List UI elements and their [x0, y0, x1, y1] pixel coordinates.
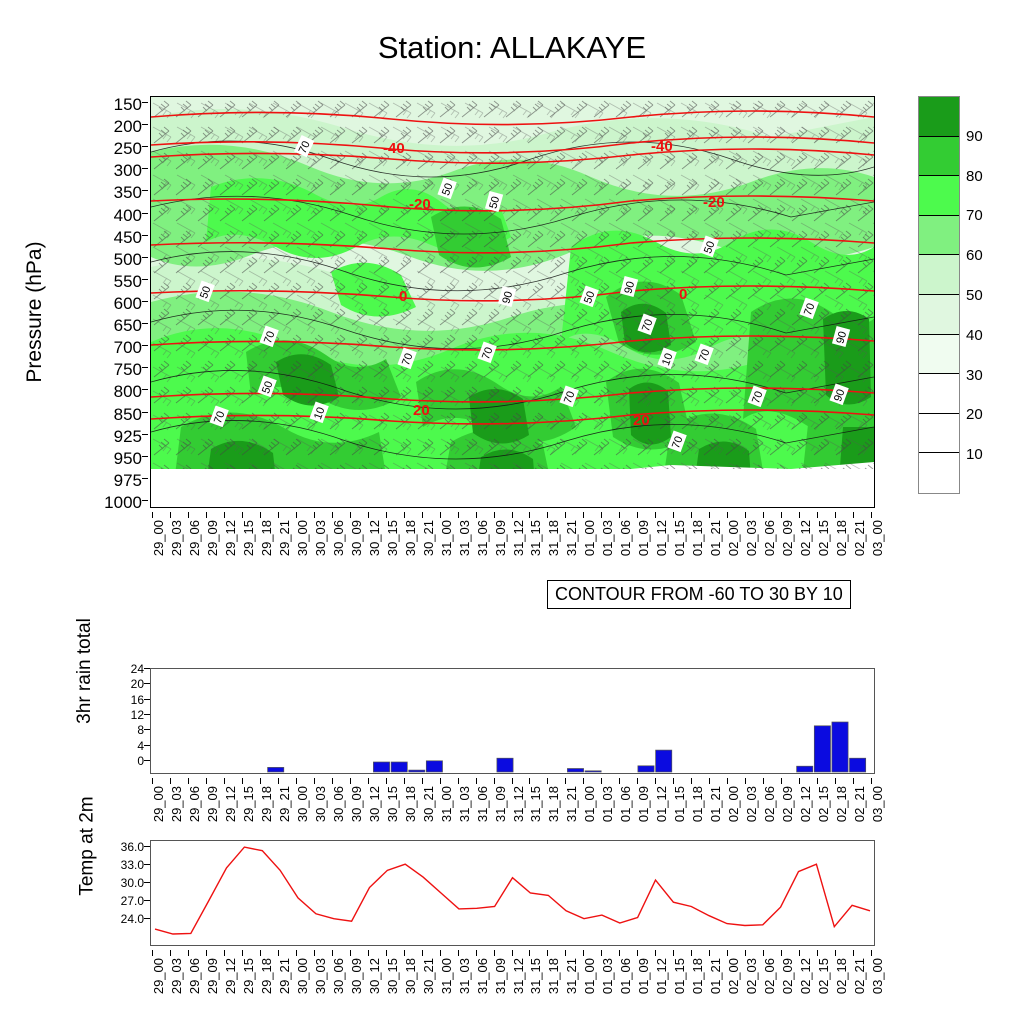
pressure-tick: 600: [82, 295, 142, 312]
time-tick: 02_12: [799, 520, 812, 556]
time-tick: 30_09: [350, 520, 363, 556]
time-tickmark: [332, 950, 333, 956]
time-tickmark: [440, 512, 441, 518]
pressure-tickmark: [142, 412, 148, 413]
time-tickmark: [494, 512, 495, 518]
pressure-tickmark: [142, 235, 148, 236]
pressure-tick: 450: [82, 229, 142, 246]
time-tick: 30_12: [368, 520, 381, 556]
time-tickmark: [458, 512, 459, 518]
time-tickmark: [799, 778, 800, 784]
time-tick: 01_21: [709, 958, 722, 994]
time-tickmark: [565, 950, 566, 956]
time-tickmark: [386, 950, 387, 956]
time-tick: 31_21: [565, 786, 578, 822]
time-tickmark: [440, 778, 441, 784]
time-tickmark: [529, 950, 530, 956]
time-tick: 31_15: [529, 520, 542, 556]
rain-bar: [567, 769, 583, 773]
time-tick: 31_18: [547, 958, 560, 994]
time-tick: 03_00: [871, 520, 884, 556]
time-tick: 31_18: [547, 786, 560, 822]
time-tickmark: [745, 778, 746, 784]
rain-bar: [656, 750, 672, 772]
time-tickmark: [386, 778, 387, 784]
rain-bar: [850, 758, 866, 772]
time-tick: 30_12: [368, 958, 381, 994]
pressure-tick: 200: [82, 118, 142, 135]
time-tick: 29_12: [224, 958, 237, 994]
time-tick: 29_21: [278, 520, 291, 556]
time-tick: 02_06: [763, 958, 776, 994]
time-tickmark: [170, 512, 171, 518]
time-tick: 01_09: [637, 520, 650, 556]
time-tickmark: [781, 512, 782, 518]
time-tick: 02_21: [853, 958, 866, 994]
time-tickmark: [242, 512, 243, 518]
pressure-tickmark: [142, 323, 148, 324]
time-tick: 02_12: [799, 786, 812, 822]
pressure-tickmark: [142, 124, 148, 125]
time-tickmark: [637, 512, 638, 518]
pressure-tick: 975: [82, 472, 142, 489]
time-tickmark: [655, 778, 656, 784]
time-tickmark: [404, 950, 405, 956]
time-tickmark: [188, 512, 189, 518]
time-tick: 02_21: [853, 520, 866, 556]
pressure-tick: 650: [82, 317, 142, 334]
colorbar-label: 50: [966, 288, 983, 303]
svg-text:-40: -40: [651, 138, 673, 155]
time-tick: 30_00: [296, 958, 309, 994]
colorbar-label: 70: [966, 208, 983, 223]
time-tick: 31_06: [476, 520, 489, 556]
rain-bar: [585, 771, 601, 772]
time-tickmark: [529, 512, 530, 518]
time-tickmark: [637, 778, 638, 784]
time-tick: 30_00: [296, 520, 309, 556]
time-tick: 31_21: [565, 520, 578, 556]
colorbar-labels: 908070605040302010: [918, 96, 1018, 496]
time-tickmark: [206, 778, 207, 784]
time-tickmark: [260, 778, 261, 784]
rain-bar: [373, 762, 389, 772]
time-tick: 31_06: [476, 958, 489, 994]
time-tickmark: [512, 512, 513, 518]
time-tickmark: [368, 512, 369, 518]
time-tickmark: [494, 950, 495, 956]
colorbar-label: 80: [966, 169, 983, 184]
svg-text:20: 20: [633, 412, 650, 429]
time-tick: 02_18: [835, 786, 848, 822]
time-tickmark: [835, 512, 836, 518]
rain-bar: [426, 761, 442, 772]
time-tick: 31_09: [494, 520, 507, 556]
rain-bar: [797, 766, 813, 772]
pressure-tick: 250: [82, 140, 142, 157]
time-tick: 02_06: [763, 786, 776, 822]
time-tick: 29_15: [242, 958, 255, 994]
pressure-tick: 1000: [82, 494, 142, 511]
rain-bar: [832, 722, 848, 772]
pressure-tickmark: [142, 345, 148, 346]
time-tick: 31_21: [565, 958, 578, 994]
pressure-tick: 800: [82, 383, 142, 400]
time-tick: 01_18: [691, 520, 704, 556]
time-tickmark: [835, 778, 836, 784]
time-tick: 02_03: [745, 520, 758, 556]
time-tickmark: [565, 512, 566, 518]
time-tick: 29_18: [260, 958, 273, 994]
time-tick: 29_15: [242, 786, 255, 822]
time-tick: 31_15: [529, 786, 542, 822]
time-tick: 01_03: [601, 786, 614, 822]
rain-tick: 20: [110, 678, 144, 690]
time-tick: 31_18: [547, 520, 560, 556]
time-axis-ticks-temp: 29_0029_0329_0629_0929_1229_1529_1829_21…: [150, 950, 875, 1012]
time-tick: 02_03: [745, 786, 758, 822]
svg-text:-40: -40: [383, 140, 405, 157]
colorbar-label: 30: [966, 368, 983, 383]
time-tickmark: [476, 950, 477, 956]
time-tickmark: [260, 512, 261, 518]
time-tick: 01_00: [583, 786, 596, 822]
time-tick: 01_21: [709, 520, 722, 556]
time-tickmark: [601, 512, 602, 518]
time-tick: 31_12: [512, 958, 525, 994]
colorbar-label: 10: [966, 447, 983, 462]
time-tickmark: [152, 778, 153, 784]
time-tickmark: [853, 778, 854, 784]
time-tickmark: [404, 778, 405, 784]
svg-text:-20: -20: [703, 194, 725, 211]
time-tick: 01_18: [691, 958, 704, 994]
time-tickmark: [242, 950, 243, 956]
time-tickmark: [655, 512, 656, 518]
time-tick: 30_06: [332, 786, 345, 822]
time-tick: 30_12: [368, 786, 381, 822]
rain-bar: [814, 726, 830, 772]
time-tickmark: [583, 778, 584, 784]
time-tick: 29_06: [188, 520, 201, 556]
time-tick: 31_03: [458, 958, 471, 994]
time-tickmark: [709, 512, 710, 518]
time-tickmark: [529, 778, 530, 784]
time-tickmark: [817, 778, 818, 784]
time-tickmark: [206, 950, 207, 956]
pressure-tickmark: [142, 257, 148, 258]
time-tickmark: [296, 512, 297, 518]
rain-tick: 4: [110, 740, 144, 752]
time-tickmark: [350, 512, 351, 518]
temp-tick: 33.0: [100, 859, 144, 871]
pressure-tick: 850: [82, 406, 142, 423]
time-tick: 02_18: [835, 958, 848, 994]
time-tickmark: [763, 512, 764, 518]
time-tick: 02_00: [727, 958, 740, 994]
time-tick: 02_15: [817, 958, 830, 994]
pressure-tickmark: [142, 456, 148, 457]
time-tick: 29_00: [152, 786, 165, 822]
rain-bar: [409, 770, 425, 772]
pressure-tick: 300: [82, 162, 142, 179]
time-tickmark: [565, 778, 566, 784]
pressure-tick: 150: [82, 96, 142, 113]
time-tick: 02_09: [781, 786, 794, 822]
time-tickmark: [799, 950, 800, 956]
time-tickmark: [727, 512, 728, 518]
time-tickmark: [242, 778, 243, 784]
time-tick: 30_21: [422, 958, 435, 994]
colorbar-label: 40: [966, 328, 983, 343]
time-tick: 02_03: [745, 958, 758, 994]
time-tick: 30_09: [350, 786, 363, 822]
time-tick: 29_12: [224, 520, 237, 556]
pressure-tick: 550: [82, 273, 142, 290]
time-tick: 02_15: [817, 520, 830, 556]
pressure-tick: 950: [82, 450, 142, 467]
time-tickmark: [781, 778, 782, 784]
time-tickmark: [152, 512, 153, 518]
time-tickmark: [601, 778, 602, 784]
time-tickmark: [601, 950, 602, 956]
time-tick: 30_00: [296, 786, 309, 822]
time-axis-ticks-rain: 29_0029_0329_0629_0929_1229_1529_1829_21…: [150, 778, 875, 840]
colorbar-label: 90: [966, 129, 983, 144]
time-tick: 02_00: [727, 520, 740, 556]
time-tick: 01_09: [637, 786, 650, 822]
time-tick: 31_09: [494, 958, 507, 994]
pressure-tickmark: [142, 301, 148, 302]
time-tick: 01_03: [601, 958, 614, 994]
time-tick: 30_18: [404, 786, 417, 822]
time-tickmark: [619, 778, 620, 784]
pressure-tickmark: [142, 478, 148, 479]
rain-tick: 16: [110, 694, 144, 706]
time-tick: 02_18: [835, 520, 848, 556]
time-tick: 01_00: [583, 958, 596, 994]
time-tick: 02_00: [727, 786, 740, 822]
pressure-tick: 400: [82, 207, 142, 224]
rain-bar: [391, 762, 407, 772]
pressure-axis-label: Pressure (hPa): [23, 147, 47, 477]
time-tickmark: [152, 950, 153, 956]
pressure-tickmark: [142, 213, 148, 214]
pressure-tickmark: [142, 389, 148, 390]
rain-bars-canvas: [151, 669, 874, 773]
temp-series-line: [155, 847, 870, 934]
time-tickmark: [691, 950, 692, 956]
time-tick: 30_09: [350, 958, 363, 994]
time-tickmark: [440, 950, 441, 956]
time-tickmark: [547, 778, 548, 784]
time-tickmark: [224, 778, 225, 784]
time-tick: 31_03: [458, 520, 471, 556]
time-tick: 30_15: [386, 786, 399, 822]
time-tickmark: [727, 778, 728, 784]
time-tick: 29_06: [188, 786, 201, 822]
time-tickmark: [853, 950, 854, 956]
time-tickmark: [709, 778, 710, 784]
time-tick: 29_15: [242, 520, 255, 556]
time-tickmark: [673, 778, 674, 784]
time-tick: 31_03: [458, 786, 471, 822]
time-tickmark: [404, 512, 405, 518]
time-tick: 30_18: [404, 958, 417, 994]
temp-tick: 30.0: [100, 877, 144, 889]
time-tick: 29_12: [224, 786, 237, 822]
temp-tick: 24.0: [100, 913, 144, 925]
time-tickmark: [332, 778, 333, 784]
time-tickmark: [224, 512, 225, 518]
cross-section-plot[interactable]: -40 -40 -20 -20 0 0 20 20 70 50 50 50 50…: [150, 96, 875, 508]
svg-text:20: 20: [413, 402, 430, 419]
time-tick: 29_03: [170, 958, 183, 994]
time-tickmark: [655, 950, 656, 956]
time-tickmark: [673, 950, 674, 956]
time-tick: 01_12: [655, 958, 668, 994]
rain-tick: 12: [110, 709, 144, 721]
time-tickmark: [170, 778, 171, 784]
time-tick: 30_06: [332, 958, 345, 994]
time-tickmark: [260, 950, 261, 956]
time-tick: 01_06: [619, 520, 632, 556]
rain-plot[interactable]: [150, 668, 875, 774]
time-tick: 30_15: [386, 520, 399, 556]
cross-section-canvas: -40 -40 -20 -20 0 0 20 20 70 50 50 50 50…: [151, 97, 874, 507]
rain-tick: 8: [110, 724, 144, 736]
time-tick: 29_18: [260, 520, 273, 556]
time-tick: 01_18: [691, 786, 704, 822]
pressure-tickmark: [142, 190, 148, 191]
time-tick: 30_21: [422, 786, 435, 822]
pressure-tick: 350: [82, 184, 142, 201]
time-tick: 30_06: [332, 520, 345, 556]
time-tick: 31_00: [440, 958, 453, 994]
pressure-tickmark: [142, 168, 148, 169]
time-tick: 31_15: [529, 958, 542, 994]
time-tick: 31_06: [476, 786, 489, 822]
time-tick: 29_21: [278, 786, 291, 822]
time-tick: 30_18: [404, 520, 417, 556]
time-tickmark: [314, 778, 315, 784]
time-tickmark: [512, 778, 513, 784]
rain-tick: 24: [110, 663, 144, 675]
temp-axis-ticks: 36.033.030.027.024.0: [98, 832, 144, 954]
time-tickmark: [709, 950, 710, 956]
time-tick: 02_21: [853, 786, 866, 822]
time-tick: 01_06: [619, 958, 632, 994]
pressure-tickmark: [142, 279, 148, 280]
time-tickmark: [745, 512, 746, 518]
time-tickmark: [170, 950, 171, 956]
pressure-tick: 925: [82, 428, 142, 445]
time-tickmark: [296, 950, 297, 956]
time-tickmark: [314, 950, 315, 956]
time-tickmark: [368, 778, 369, 784]
pressure-tickmark: [142, 102, 148, 103]
time-tickmark: [691, 512, 692, 518]
colorbar[interactable]: 908070605040302010: [918, 96, 1018, 496]
time-tickmark: [763, 950, 764, 956]
pressure-tick: 500: [82, 251, 142, 268]
time-tick: 01_12: [655, 786, 668, 822]
time-tick: 01_00: [583, 520, 596, 556]
pressure-tickmark: [142, 367, 148, 368]
time-tick: 02_15: [817, 786, 830, 822]
time-tickmark: [871, 950, 872, 956]
time-tickmark: [619, 512, 620, 518]
time-tick: 01_03: [601, 520, 614, 556]
time-tickmark: [422, 778, 423, 784]
pressure-axis-ticks: 1502002503003504004505005506006507007508…: [80, 96, 142, 508]
temp-axis-label: Temp at 2m: [77, 739, 99, 954]
rain-bar: [268, 767, 284, 772]
time-tickmark: [350, 778, 351, 784]
time-tickmark: [350, 950, 351, 956]
rain-tick: 0: [110, 755, 144, 767]
time-tickmark: [278, 950, 279, 956]
time-tick: 01_06: [619, 786, 632, 822]
time-tick: 30_03: [314, 520, 327, 556]
time-tick: 02_09: [781, 958, 794, 994]
time-tickmark: [458, 778, 459, 784]
colorbar-label: 20: [966, 407, 983, 422]
colorbar-label: 60: [966, 248, 983, 263]
time-tick: 01_15: [673, 958, 686, 994]
time-tickmark: [512, 950, 513, 956]
time-tickmark: [188, 950, 189, 956]
time-tick: 31_12: [512, 786, 525, 822]
time-tick: 30_21: [422, 520, 435, 556]
time-tickmark: [745, 950, 746, 956]
time-tickmark: [835, 950, 836, 956]
time-tickmark: [278, 778, 279, 784]
time-tickmark: [547, 950, 548, 956]
time-tickmark: [817, 950, 818, 956]
time-tickmark: [224, 950, 225, 956]
time-tick: 29_09: [206, 786, 219, 822]
time-tickmark: [763, 778, 764, 784]
time-tickmark: [188, 778, 189, 784]
time-axis-ticks-main: 29_0029_0329_0629_0929_1229_1529_1829_21…: [150, 512, 875, 574]
time-tick: 02_09: [781, 520, 794, 556]
time-tick: 30_03: [314, 958, 327, 994]
temp-tick: 27.0: [100, 895, 144, 907]
time-tick: 03_00: [871, 958, 884, 994]
time-tick: 03_00: [871, 786, 884, 822]
time-tickmark: [314, 512, 315, 518]
time-tick: 29_00: [152, 958, 165, 994]
time-tick: 01_15: [673, 520, 686, 556]
time-tickmark: [871, 512, 872, 518]
time-tickmark: [799, 512, 800, 518]
time-tick: 02_12: [799, 958, 812, 994]
temp-plot[interactable]: [150, 840, 875, 946]
time-tick: 29_03: [170, 520, 183, 556]
pressure-tick: 700: [82, 339, 142, 356]
time-tickmark: [368, 950, 369, 956]
time-tickmark: [332, 512, 333, 518]
time-tick: 01_12: [655, 520, 668, 556]
pressure-tickmark: [142, 434, 148, 435]
pressure-tick: 750: [82, 361, 142, 378]
time-tickmark: [278, 512, 279, 518]
time-tickmark: [871, 778, 872, 784]
time-tick: 30_03: [314, 786, 327, 822]
time-tickmark: [727, 950, 728, 956]
time-tickmark: [583, 512, 584, 518]
